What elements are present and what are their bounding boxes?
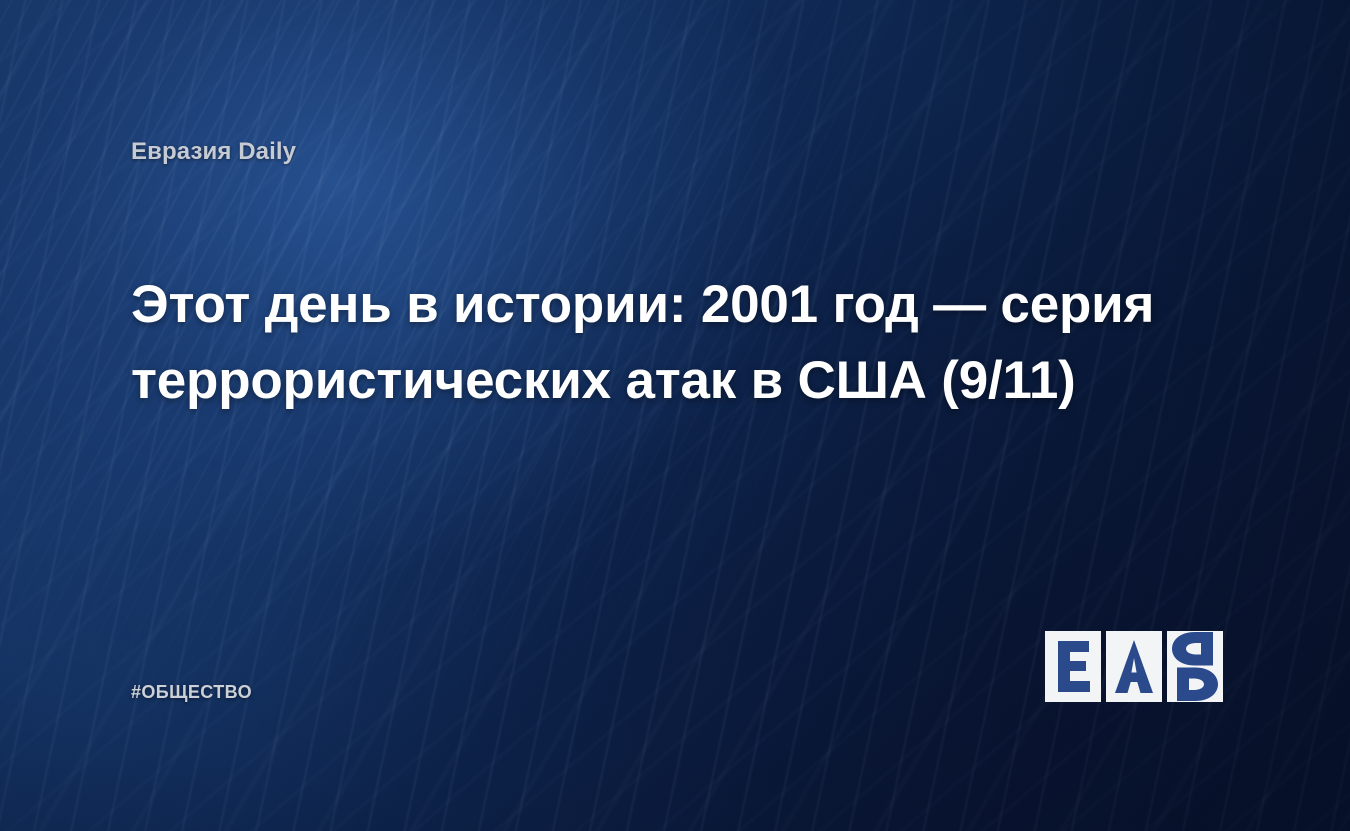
rubric-tag[interactable]: #ОБЩЕСТВО bbox=[131, 680, 252, 704]
page-title: Этот день в истории: 2001 год — серия те… bbox=[131, 267, 1221, 419]
card-content: Евразия Daily Этот день в истории: 2001 … bbox=[0, 0, 1350, 831]
logo-tile-e bbox=[1045, 631, 1101, 702]
logo-tile-d-split bbox=[1167, 631, 1223, 702]
eadaily-logo bbox=[1045, 631, 1225, 702]
social-share-card: Евразия Daily Этот день в истории: 2001 … bbox=[0, 0, 1350, 831]
logo-letter-e-icon bbox=[1045, 631, 1101, 702]
logo-letter-d-split-icon bbox=[1167, 631, 1223, 702]
site-name: Евразия Daily bbox=[131, 137, 296, 167]
logo-letter-a-icon bbox=[1106, 631, 1162, 702]
logo-tile-a bbox=[1106, 631, 1162, 702]
